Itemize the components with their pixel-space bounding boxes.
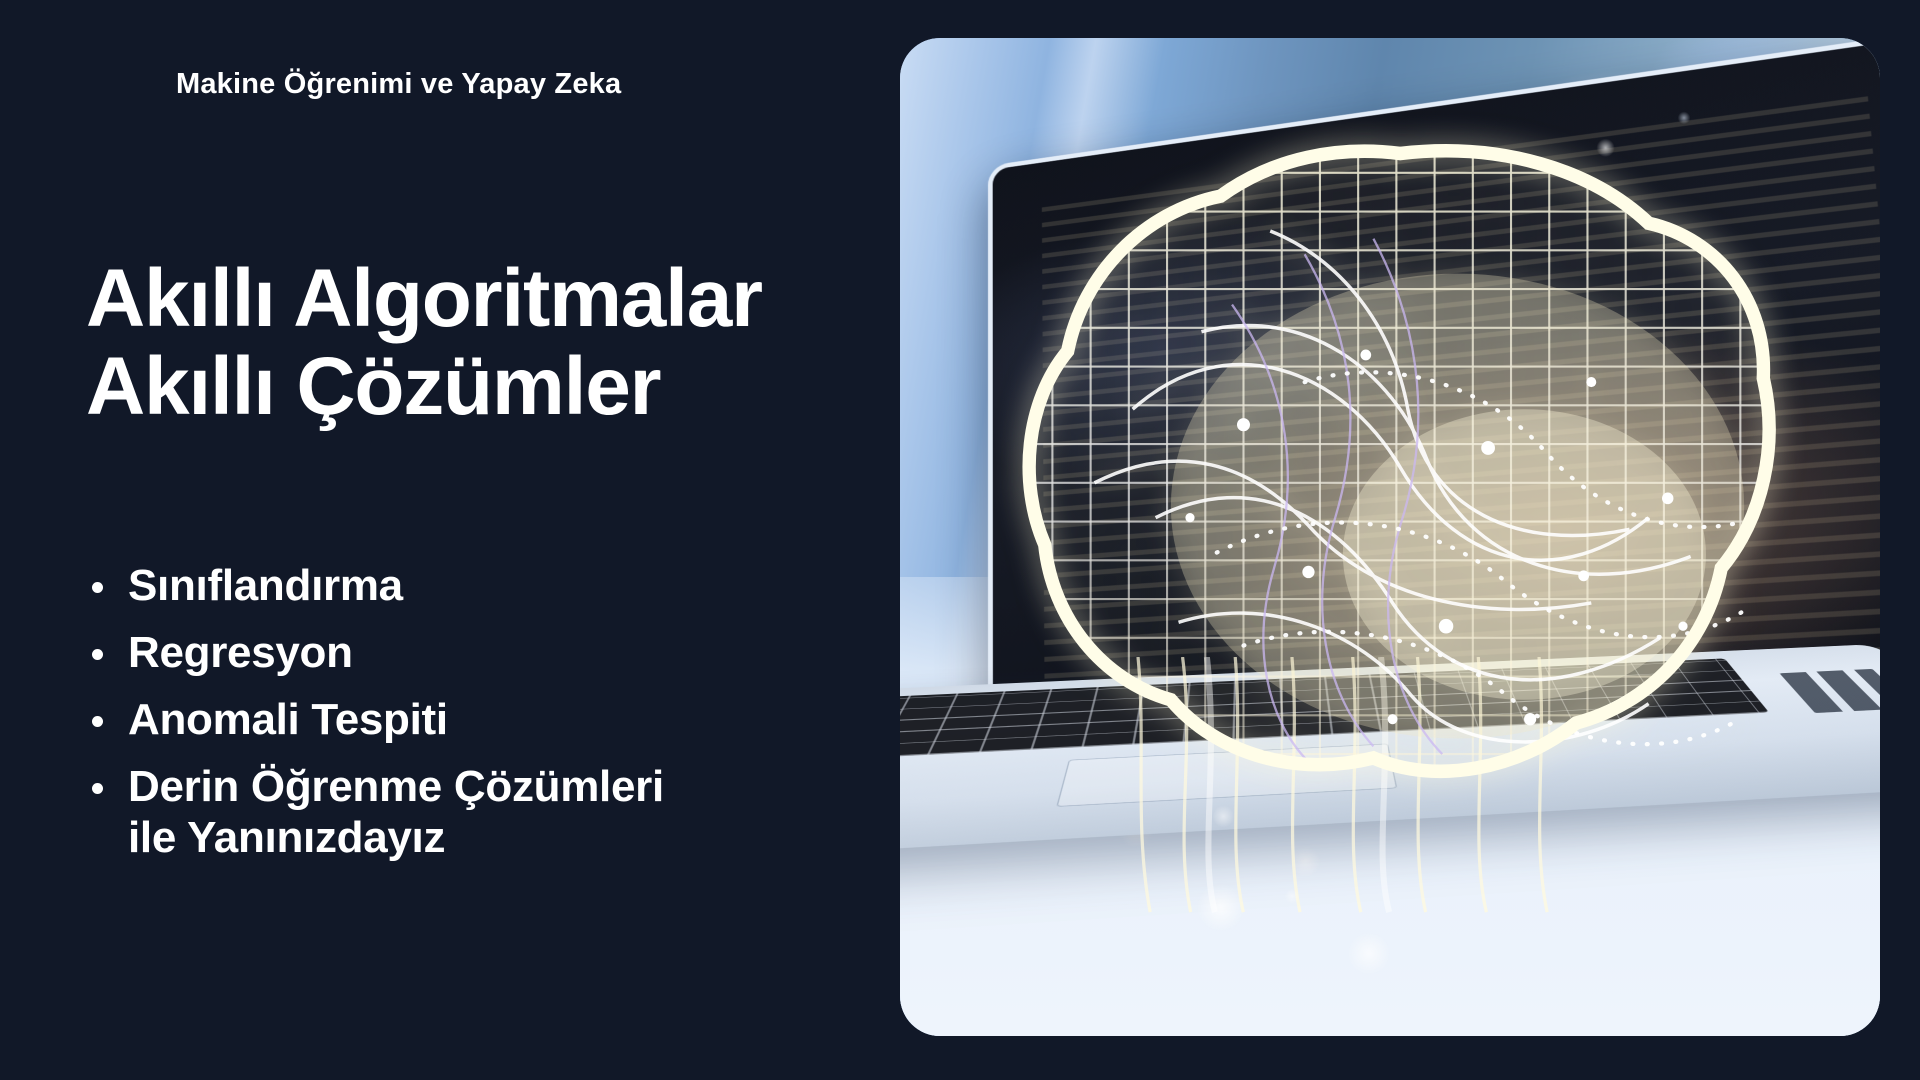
text-column: Makine Öğrenimi ve Yapay Zeka Akıllı Alg… <box>0 0 900 1080</box>
eyebrow-label: Makine Öğrenimi ve Yapay Zeka <box>176 68 621 101</box>
list-item: Anomali Tespiti <box>86 694 916 745</box>
laptop-ports <box>1780 669 1880 713</box>
hero-image <box>900 38 1880 1036</box>
list-item: Sınıflandırma <box>86 560 916 611</box>
page-title-line-1: Akıllı Algoritmalar <box>86 255 762 343</box>
slide-canvas: Makine Öğrenimi ve Yapay Zeka Akıllı Alg… <box>0 0 1920 1080</box>
list-item: Regresyon <box>86 627 916 678</box>
screen-glow <box>993 38 1880 751</box>
feature-list: Sınıflandırma Regresyon Anomali Tespiti … <box>86 560 916 863</box>
page-title-line-2: Akıllı Çözümler <box>86 343 762 431</box>
page-title: Akıllı Algoritmalar Akıllı Çözümler <box>86 255 762 430</box>
list-item: Derin Öğrenme Çözümleri ile Yanınızdayız <box>86 761 916 863</box>
laptop-trackpad <box>1057 743 1398 806</box>
